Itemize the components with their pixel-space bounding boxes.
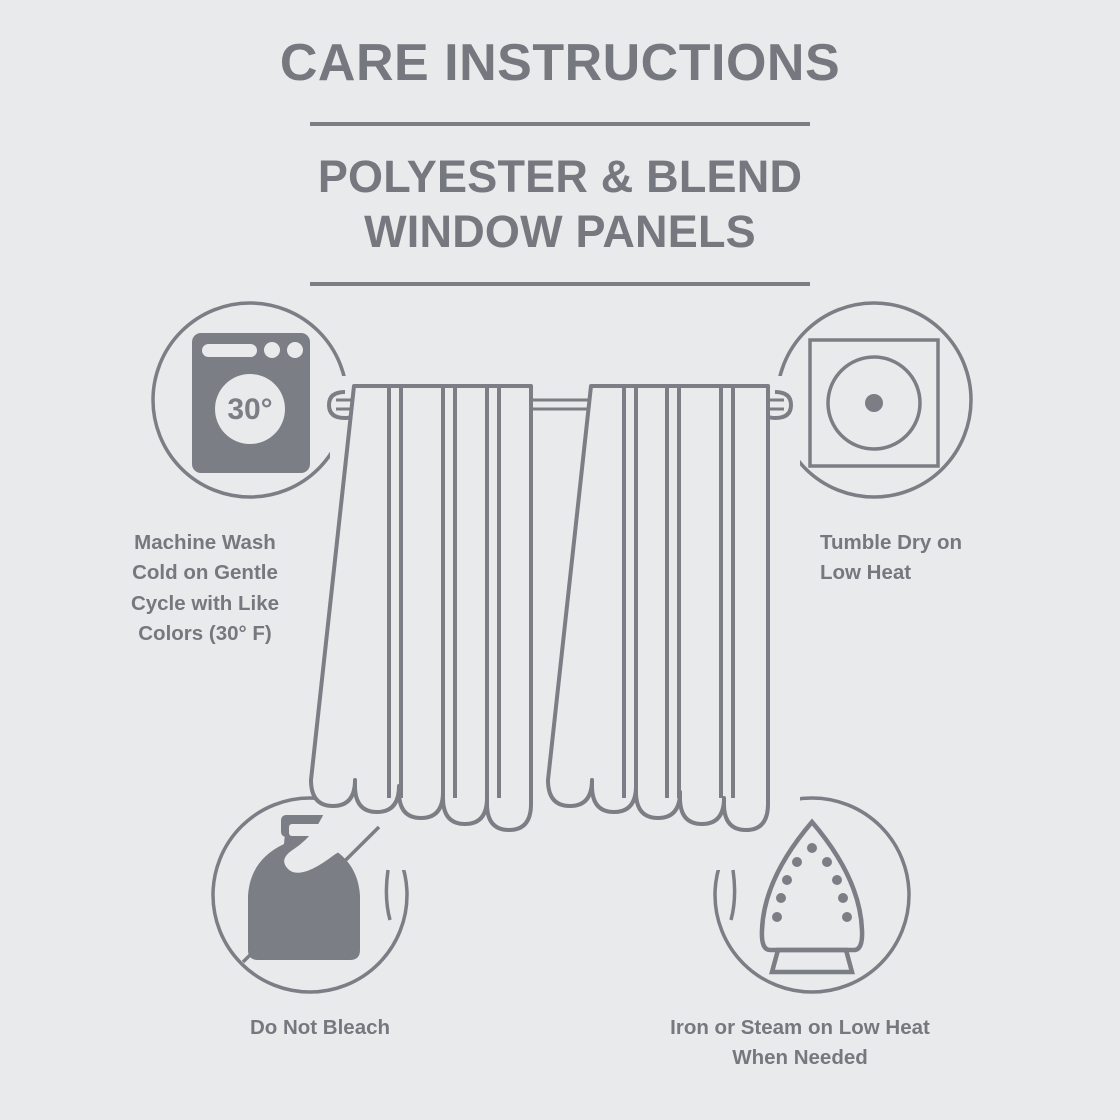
no-bleach-icon [213,798,407,992]
caption-line: Colors (30° F) [60,619,350,649]
caption-line: Iron or Steam on Low Heat [605,1013,995,1043]
caption-line: Cold on Gentle [60,558,350,588]
caption-line: Do Not Bleach [180,1013,460,1043]
caption-line: Cycle with Like [60,589,350,619]
caption-line: Tumble Dry on [820,528,1080,558]
caption-do-not-bleach: Do Not Bleach [180,1013,460,1043]
iron-base [772,950,852,972]
curtain-right-hem-detail [731,870,735,920]
curtain-left-hem-detail [386,870,390,920]
washing-machine-icon: 30° [153,303,347,497]
caption-tumble-dry: Tumble Dry on Low Heat [820,528,1080,589]
caption-iron: Iron or Steam on Low Heat When Needed [605,1013,995,1074]
wash-temperature-badge: 30° [227,393,272,426]
caption-line: Low Heat [820,558,1080,588]
curtain-panels-on-rod [311,386,791,920]
iron-soleplate [762,822,862,950]
iron-steam-holes [772,843,852,922]
caption-line: Machine Wash [60,528,350,558]
caption-machine-wash: Machine Wash Cold on Gentle Cycle with L… [60,528,350,649]
dryer-heat-dot [865,394,883,412]
care-instructions-infographic: CARE INSTRUCTIONS POLYESTER & BLEND WIND… [0,0,1120,1120]
tumble-dry-low-icon [777,303,971,497]
caption-line: When Needed [605,1043,995,1073]
